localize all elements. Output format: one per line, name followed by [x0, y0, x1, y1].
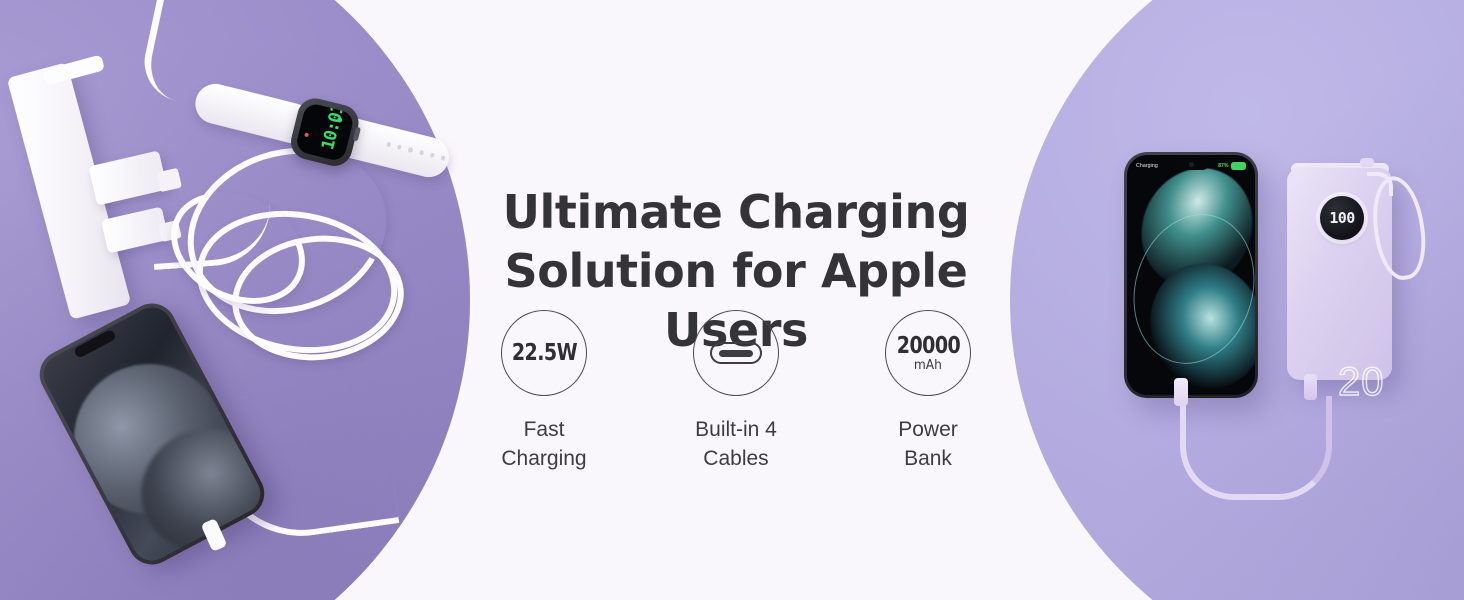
- iphone-right-screen: Charging 87%: [1127, 155, 1255, 395]
- iphone-right: Charging 87%: [1124, 152, 1258, 398]
- battery-icon: [1231, 162, 1246, 170]
- battery-percent-label: 87%: [1218, 163, 1228, 169]
- badge-circle-capacity: 20000 mAh: [885, 310, 971, 396]
- usb-c-port-icon: [710, 342, 762, 364]
- wattage-value: 22.5W: [511, 340, 576, 366]
- watch-time: 10:01: [318, 102, 349, 152]
- product-banner: 10:01 Ultimate Charging Solution for App…: [0, 0, 1464, 600]
- feature-power-bank: 20000 mAh Power Bank: [858, 310, 998, 474]
- power-bank-led-display: 100: [1320, 196, 1364, 240]
- cable-connector-phone: [1174, 378, 1188, 406]
- charging-cable: [1180, 396, 1332, 500]
- feature-caption-power-bank: Power Bank: [898, 416, 958, 474]
- right-product-scene: Charging 87% 100 20: [1004, 0, 1464, 600]
- headline-line-1: Ultimate Charging: [503, 185, 970, 239]
- caption-line-1: Built-in 4: [695, 416, 777, 445]
- front-camera-icon: [1189, 162, 1194, 167]
- capacity-value: 20000: [896, 333, 959, 359]
- watch-face: 10:01: [294, 102, 355, 163]
- cable-connector-powerbank: [1304, 374, 1317, 400]
- led-charge-value: 100: [1329, 209, 1354, 227]
- feature-caption-fast-charging: Fast Charging: [501, 416, 586, 474]
- battery-indicator: 87%: [1218, 162, 1246, 170]
- badge-circle-usbc: [693, 310, 779, 396]
- capacity-unit: mAh: [914, 358, 942, 373]
- caption-line-1: Power: [898, 416, 958, 445]
- watch-red-dot-icon: [304, 132, 309, 137]
- usb-c-port-inner: [719, 350, 753, 357]
- power-bank-button: [1360, 158, 1374, 167]
- caption-line-2: Charging: [501, 445, 586, 474]
- feature-built-in-cables: Built-in 4 Cables: [666, 310, 806, 474]
- caption-line-1: Fast: [501, 416, 586, 445]
- feature-list: 22.5W Fast Charging Built-in 4 Cables: [462, 310, 1010, 474]
- feature-caption-built-in-cables: Built-in 4 Cables: [695, 416, 777, 474]
- caption-line-2: Bank: [898, 445, 958, 474]
- power-bank-body-label: 20: [1338, 360, 1408, 402]
- charging-status-label: Charging: [1136, 163, 1158, 169]
- feature-fast-charging: 22.5W Fast Charging: [474, 310, 614, 474]
- caption-line-2: Cables: [695, 445, 777, 474]
- left-product-scene: 10:01: [0, 0, 480, 600]
- badge-circle-wattage: 22.5W: [501, 310, 587, 396]
- center-content: Ultimate Charging Solution for Apple Use…: [462, 0, 1010, 600]
